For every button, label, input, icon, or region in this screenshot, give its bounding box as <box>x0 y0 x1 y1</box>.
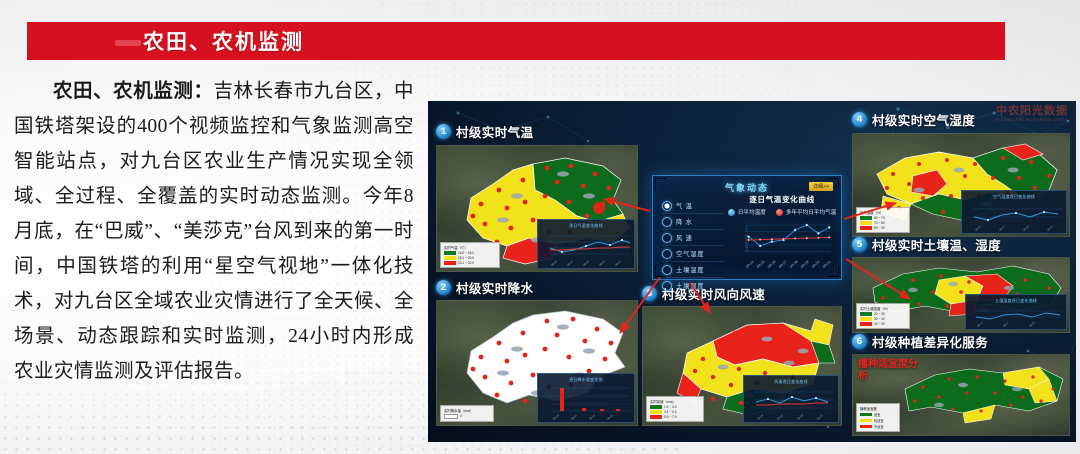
panel-5-header: 5 村级实时土壤温、湿度 <box>852 236 1001 253</box>
corner-accent-tl <box>655 178 666 189</box>
panel-4-label: 村级实时空气湿度 <box>872 110 975 129</box>
legend-swatch <box>860 317 872 321</box>
chart-xtick: 09-19 <box>800 260 810 269</box>
legend-swatch <box>650 410 662 414</box>
more-details-button[interactable]: 详细>> <box>809 182 833 191</box>
metric-radio-kongqishidu[interactable]: 空气湿度 <box>662 246 724 262</box>
panel-5-legend: 实时土壤湿度（%） 20 ~ 30 30 ~ 40 40 ~ 50 <box>856 303 910 329</box>
radio-icon[interactable] <box>662 233 672 243</box>
panel-3-map[interactable]: 风速逐日变化曲线 09-14 09-17 09-19 09-21 <box>642 306 842 426</box>
chart-xtick: 09-18 <box>789 260 799 269</box>
radio-icon[interactable] <box>662 249 672 259</box>
metric-radio-label: 土壤湿度 <box>676 281 704 290</box>
legend-entry-label: 多年平均日平均气温 <box>786 208 836 216</box>
metric-radio-label: 气 温 <box>676 201 693 210</box>
legend-swatch <box>860 216 872 220</box>
svg-text:09-19: 09-19 <box>1023 225 1030 232</box>
panel-2-mini-chart: 逐日降水量变化图 09-14 09-16 0 <box>537 373 635 423</box>
legend-row-text: 60 ~ 70 <box>874 216 885 220</box>
panel-2-map[interactable]: 逐日降水量变化图 09-14 09-16 0 <box>436 300 638 426</box>
panel-4-mini-chart: 空气湿度逐日变化曲线 09-14 09-17 09-19 09-21 <box>961 190 1067 234</box>
legend-row-text: 40 ~ 50 <box>874 322 885 326</box>
chart-xtick: 09-15 <box>756 260 766 269</box>
legend-swatch <box>860 322 872 326</box>
panel-4-header: 4 村级实时空气湿度 <box>852 111 975 128</box>
panel-6-header: 6 村级种植差异化服务 <box>852 333 988 350</box>
svg-text:09-16: 09-16 <box>566 259 574 267</box>
legend-entry-multiyear-avg: 多年平均日平均气温 <box>776 208 836 216</box>
svg-text:09-21: 09-21 <box>1047 225 1054 232</box>
temperature-chart: 逐日气温变化曲线 日平均温度 多年平均日平均气温 日平均气温（℃） <box>731 194 833 271</box>
legend-swatch <box>444 251 456 255</box>
radio-icon[interactable] <box>662 265 672 275</box>
banner-ghost-mark <box>115 40 141 46</box>
legend-swatch <box>650 415 662 419</box>
legend-row-text: 0 <box>460 414 462 418</box>
chart-xtick: 09-20 <box>811 260 821 269</box>
svg-text:09-19: 09-19 <box>796 413 804 421</box>
svg-text:09-17: 09-17 <box>999 225 1006 232</box>
weather-control-panel[interactable]: 气象动态 详细>> 气 温 降 水 风 速 空气湿度 <box>652 175 842 280</box>
slide-root: 农田、农机监测 农田、农机监测：吉林长春市九台区，中国铁塔架设的400个视频监控… <box>0 0 1080 454</box>
svg-text:09-20: 09-20 <box>598 259 606 267</box>
legend-swatch <box>444 414 458 420</box>
svg-text:09-20: 09-20 <box>1029 321 1036 328</box>
panel-4-badge: 4 <box>852 112 867 127</box>
svg-text:09-21: 09-21 <box>816 413 824 421</box>
svg-text:09-17: 09-17 <box>776 413 784 421</box>
legend-row-text: 20 ~ 30 <box>874 312 885 316</box>
legend-title: 空气湿度（%） <box>860 210 906 215</box>
panel-5-map[interactable]: 土壤湿度逐日变化曲线 09-14 09-17 09-20 实时土壤湿度（%） 2… <box>852 257 1070 333</box>
metric-radio-turangwendu[interactable]: 土壤温度 <box>662 262 724 278</box>
legend-swatch <box>860 413 872 417</box>
legend-row-text: 不适宜 <box>874 424 884 429</box>
dashboard-watermark: 中农阳光数据 SIZONGZHI SUNSHINE DATA <box>995 106 1068 122</box>
chart-plot-area: 日平均气温（℃） <box>745 220 831 255</box>
metric-radio-turangshidu[interactable]: 土壤湿度 <box>662 278 724 293</box>
legend-entry-daily-avg: 日平均温度 <box>728 208 766 216</box>
legend-swatch <box>860 419 872 423</box>
legend-row-text: 适宜 <box>874 412 880 417</box>
legend-row-text: 较适宜 <box>874 418 884 423</box>
panel-1-legend: 实时气温（℃） 16.0 ~ 18.0 18.1 ~ 20.0 20.1 ~ 2… <box>440 242 500 268</box>
legend-swatch <box>860 425 872 429</box>
panel-6-badge: 6 <box>852 334 867 349</box>
metric-radio-qiwen[interactable]: 气 温 <box>662 198 724 214</box>
legend-title: 实时土壤湿度（%） <box>860 306 906 311</box>
metric-radio-jiangshui[interactable]: 降 水 <box>662 214 724 230</box>
panel-3-badge: 3 <box>642 286 657 301</box>
panel-1-mini-chart: 逐日气温变化曲线 09-14 09-16 09-18 <box>537 219 635 269</box>
radio-selected-icon[interactable] <box>662 201 672 211</box>
chart-legend: 日平均温度 多年平均日平均气温 <box>731 208 833 216</box>
svg-text:09-18: 09-18 <box>582 259 590 267</box>
panel-1-badge: 1 <box>436 124 451 139</box>
svg-text:09-14: 09-14 <box>550 259 558 267</box>
chart-xtick: 09-21 <box>822 260 832 269</box>
panel-2-header: 2 村级实时降水 <box>436 279 533 296</box>
legend-row-text: 1.6 ~ 3.3 <box>664 405 677 409</box>
legend-swatch <box>860 312 872 316</box>
metric-radio-group[interactable]: 气 温 降 水 风 速 空气湿度 土壤温度 <box>662 198 724 293</box>
legend-row-text: 3.4 ~ 5.4 <box>664 410 677 414</box>
svg-text:09-21: 09-21 <box>614 259 622 267</box>
svg-text:09-17: 09-17 <box>1003 321 1010 328</box>
panel-6-annotation: 播种适宜度分析 <box>858 359 920 383</box>
legend-swatch <box>650 405 662 409</box>
legend-title: 播种适宜度 <box>860 406 896 411</box>
chart-xtick: 09-17 <box>778 260 788 269</box>
svg-text:09-14: 09-14 <box>552 413 560 421</box>
panel-5-label: 村级实时土壤温、湿度 <box>872 235 1001 254</box>
legend-title: 实时降水量（mm） <box>444 408 490 413</box>
panel-1-header: 1 村级实时气温 <box>436 123 533 140</box>
metric-radio-fengsu[interactable]: 风 速 <box>662 230 724 246</box>
legend-row-text: 5.5 ~ 7.9 <box>664 415 677 419</box>
radio-icon[interactable] <box>662 281 672 291</box>
chart-xtick: 09-16 <box>767 260 777 269</box>
legend-title: 实时风速（m/s） <box>650 399 700 404</box>
panel-2-legend: 实时降水量（mm） 0 <box>440 405 494 423</box>
panel-1-label: 村级实时气温 <box>456 122 533 141</box>
panel-6-label: 村级种植差异化服务 <box>872 332 988 351</box>
panel-3-mini-chart: 风速逐日变化曲线 09-14 09-17 09-19 09-21 <box>743 375 839 423</box>
panel-6-legend: 播种适宜度 适宜 较适宜 不适宜 <box>856 403 900 432</box>
title-banner: 农田、农机监测 <box>27 22 1005 60</box>
legend-row-text: 70 ~ 80 <box>874 221 885 225</box>
legend-row-text: 16.0 ~ 18.0 <box>458 251 474 255</box>
legend-row-text: 20.1 ~ 22.0 <box>458 261 474 265</box>
panel-4-map[interactable]: 空气湿度逐日变化曲线 09-14 09-17 09-19 09-21 空气湿度（… <box>852 133 1070 237</box>
legend-row-text: 30 ~ 40 <box>874 317 885 321</box>
radio-icon[interactable] <box>662 217 672 227</box>
svg-text:09-20: 09-20 <box>606 413 614 421</box>
paragraph-text: 吉林长春市九台区，中国铁塔架设的400个视频监控和气象监测高空智能站点，对九台区… <box>14 81 414 382</box>
metric-radio-label: 土壤温度 <box>676 265 704 274</box>
panel-3-legend: 实时风速（m/s） 1.6 ~ 3.3 3.4 ~ 5.4 5.5 ~ 7.9 <box>646 396 704 422</box>
legend-row-text: 18.1 ~ 20.0 <box>458 256 474 260</box>
chart-title: 逐日气温变化曲线 <box>731 194 833 205</box>
svg-text:09-14: 09-14 <box>756 413 764 421</box>
legend-row-text: 80 ~ 90 <box>874 226 885 230</box>
svg-text:09-18: 09-18 <box>588 413 596 421</box>
metric-radio-label: 降 水 <box>676 217 693 226</box>
svg-text:09-14: 09-14 <box>977 321 984 328</box>
legend-entry-label: 日平均温度 <box>738 208 766 216</box>
legend-swatch <box>444 261 456 265</box>
chart-xaxis-ticks: 09-14 09-15 09-16 09-17 09-18 09-19 09-2… <box>745 266 831 270</box>
metric-radio-label: 空气湿度 <box>676 249 704 258</box>
legend-title: 实时气温（℃） <box>444 245 496 250</box>
body-paragraph: 农田、农机监测：吉林长春市九台区，中国铁塔架设的400个视频监控和气象监测高空智… <box>14 74 414 389</box>
svg-text:09-14: 09-14 <box>975 225 982 232</box>
panel-5-badge: 5 <box>852 237 867 252</box>
legend-swatch <box>860 221 872 225</box>
metric-radio-label: 风 速 <box>676 233 693 242</box>
panel-2-label: 村级实时降水 <box>456 278 533 297</box>
svg-text:09-16: 09-16 <box>570 413 578 421</box>
panel-2-badge: 2 <box>436 280 451 295</box>
legend-swatch <box>860 226 872 230</box>
control-panel-title: 气象动态 <box>725 181 769 194</box>
page-title: 农田、农机监测 <box>143 26 304 56</box>
chart-xtick: 09-14 <box>745 260 755 269</box>
panel-5-mini-chart: 土壤湿度逐日变化曲线 09-14 09-17 09-20 <box>965 294 1067 330</box>
dashboard-screenshot: 中农阳光数据 SIZONGZHI SUNSHINE DATA 1 村级实时气温 <box>428 101 1076 442</box>
panel-1-map[interactable]: 逐日气温变化曲线 09-14 09-16 09-18 <box>436 145 638 272</box>
paragraph-lead: 农田、农机监测： <box>53 81 213 102</box>
panel-4-legend: 空气湿度（%） 60 ~ 70 70 ~ 80 80 ~ 90 <box>856 207 910 233</box>
dashboard-watermark-sub: SIZONGZHI SUNSHINE DATA <box>995 118 1068 123</box>
legend-swatch <box>444 256 456 260</box>
